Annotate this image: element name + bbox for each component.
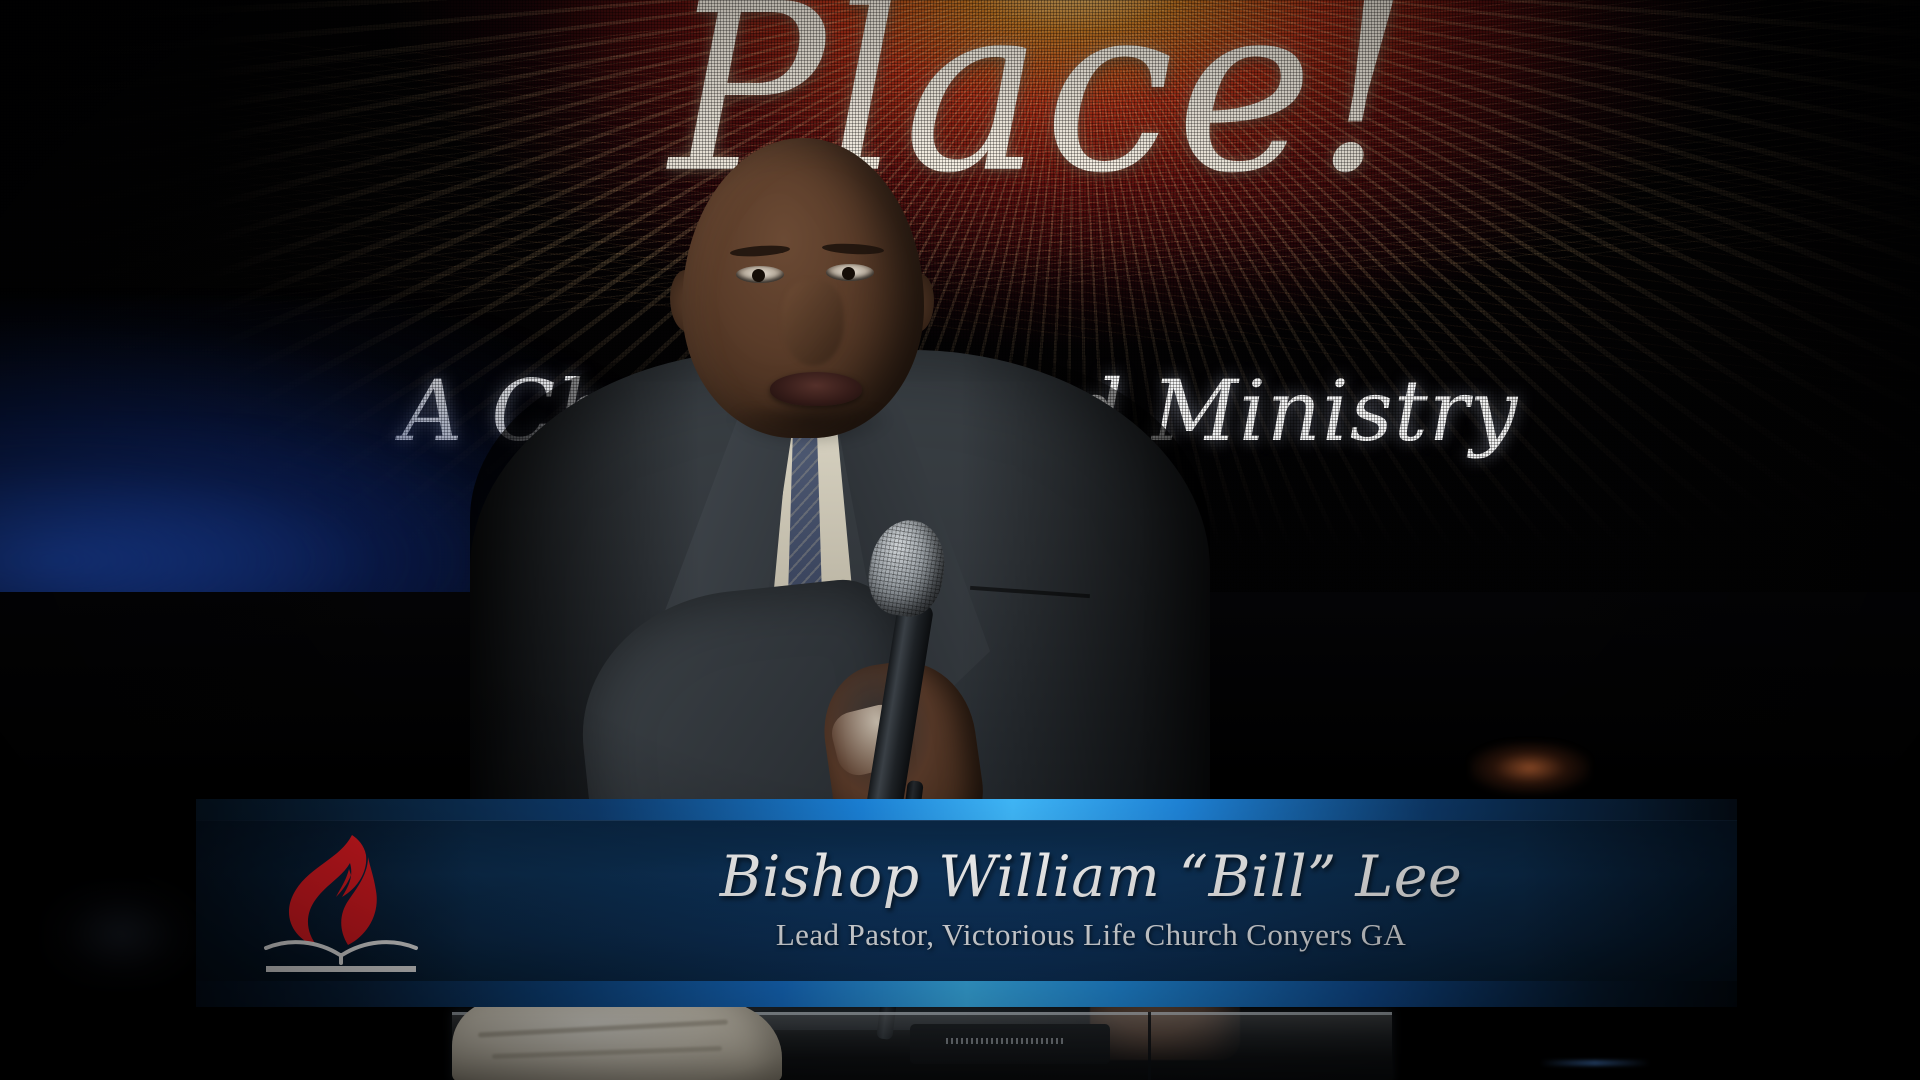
pupil-right	[842, 267, 855, 280]
lower-third-top-accent-bar	[196, 799, 1737, 820]
pupil-left	[752, 269, 765, 282]
podium-device-vent	[946, 1038, 1066, 1044]
left-stage-glint	[40, 880, 200, 990]
lower-third-text-block: Bishop William “Bill” Lee Lead Pastor, V…	[496, 823, 1686, 978]
podium-device	[910, 1024, 1110, 1064]
lower-third-graphic: Bishop William “Bill” Lee Lead Pastor, V…	[196, 799, 1737, 1007]
broadcast-frame: Place! A Church of God Ministry	[0, 0, 1920, 1080]
chin-shadow	[730, 408, 890, 448]
podium-edge-glint	[1540, 1060, 1650, 1066]
podium-seam	[1148, 1012, 1151, 1080]
speaker-role: Lead Pastor, Victorious Life Church Cony…	[776, 917, 1406, 953]
lower-third-bottom-accent-bar	[196, 981, 1737, 1007]
amber-stage-glint	[1470, 742, 1590, 794]
mouth	[770, 372, 862, 406]
nose	[782, 280, 844, 366]
speaker-name: Bishop William “Bill” Lee	[720, 848, 1462, 906]
church-of-god-flame-and-book-logo	[256, 829, 431, 977]
white-towel	[452, 1000, 782, 1080]
